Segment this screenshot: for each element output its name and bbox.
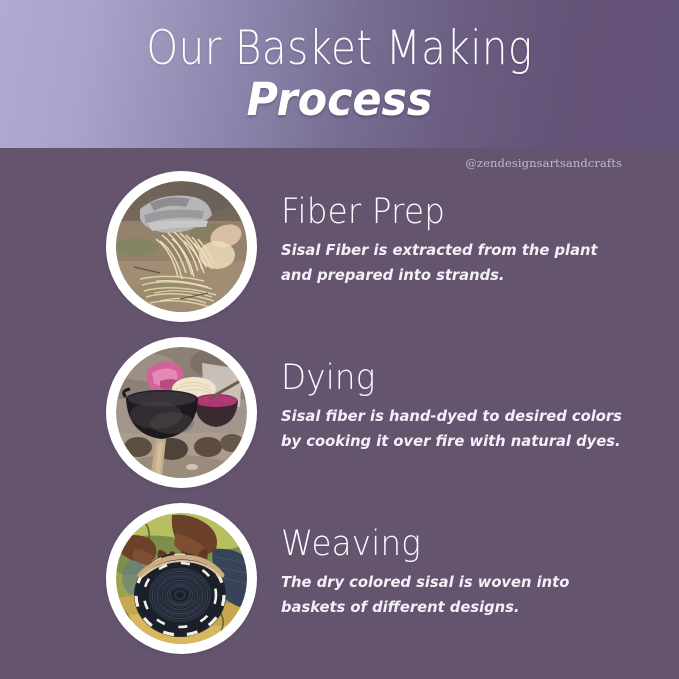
social-handle: @zendesignsartsandcrafts bbox=[465, 156, 622, 170]
step-description: Sisal Fiber is extracted from the plant … bbox=[281, 238, 598, 288]
step-heading: Weaving bbox=[281, 525, 563, 563]
step-text-block: Fiber Prep Sisal Fiber is extracted from… bbox=[281, 171, 614, 288]
step-description-line-2: and prepared into strands. bbox=[281, 263, 598, 288]
page-title-line-1: Our Basket Making bbox=[48, 22, 632, 76]
process-step-dying: Dying Sisal fiber is hand-dyed to desire… bbox=[0, 337, 679, 503]
process-step-weaving: Weaving The dry colored sisal is woven i… bbox=[0, 503, 679, 669]
basket-making-process-poster: Our Basket Making Process @zendesignsart… bbox=[0, 0, 679, 679]
step-description-line-1: Sisal fiber is hand-dyed to desired colo… bbox=[281, 404, 609, 429]
step-description-line-2: baskets of different designs. bbox=[281, 595, 569, 620]
step-text-block: Weaving The dry colored sisal is woven i… bbox=[281, 503, 585, 620]
process-step-fiber-prep: Fiber Prep Sisal Fiber is extracted from… bbox=[0, 171, 679, 337]
step-heading: Dying bbox=[281, 359, 602, 397]
dying-photo-icon bbox=[116, 347, 247, 478]
step-image-frame bbox=[106, 503, 257, 654]
step-description: The dry colored sisal is woven into bask… bbox=[281, 570, 569, 620]
process-steps-list: Fiber Prep Sisal Fiber is extracted from… bbox=[0, 171, 679, 669]
poster-header: Our Basket Making Process bbox=[0, 0, 679, 148]
weaving-photo-icon bbox=[116, 513, 247, 644]
step-description-line-1: Sisal Fiber is extracted from the plant bbox=[281, 238, 598, 263]
fiber-prep-photo-icon bbox=[116, 181, 247, 312]
step-image-frame bbox=[106, 171, 257, 322]
step-description-line-2: by cooking it over fire with natural dye… bbox=[281, 429, 609, 454]
step-text-block: Dying Sisal fiber is hand-dyed to desire… bbox=[281, 337, 626, 454]
step-description: Sisal fiber is hand-dyed to desired colo… bbox=[281, 404, 609, 454]
step-image-frame bbox=[106, 337, 257, 488]
header-title-block: Our Basket Making Process bbox=[0, 22, 679, 126]
page-title-line-2: Process bbox=[17, 74, 662, 126]
step-description-line-1: The dry colored sisal is woven into bbox=[281, 570, 569, 595]
step-heading: Fiber Prep bbox=[281, 193, 591, 231]
